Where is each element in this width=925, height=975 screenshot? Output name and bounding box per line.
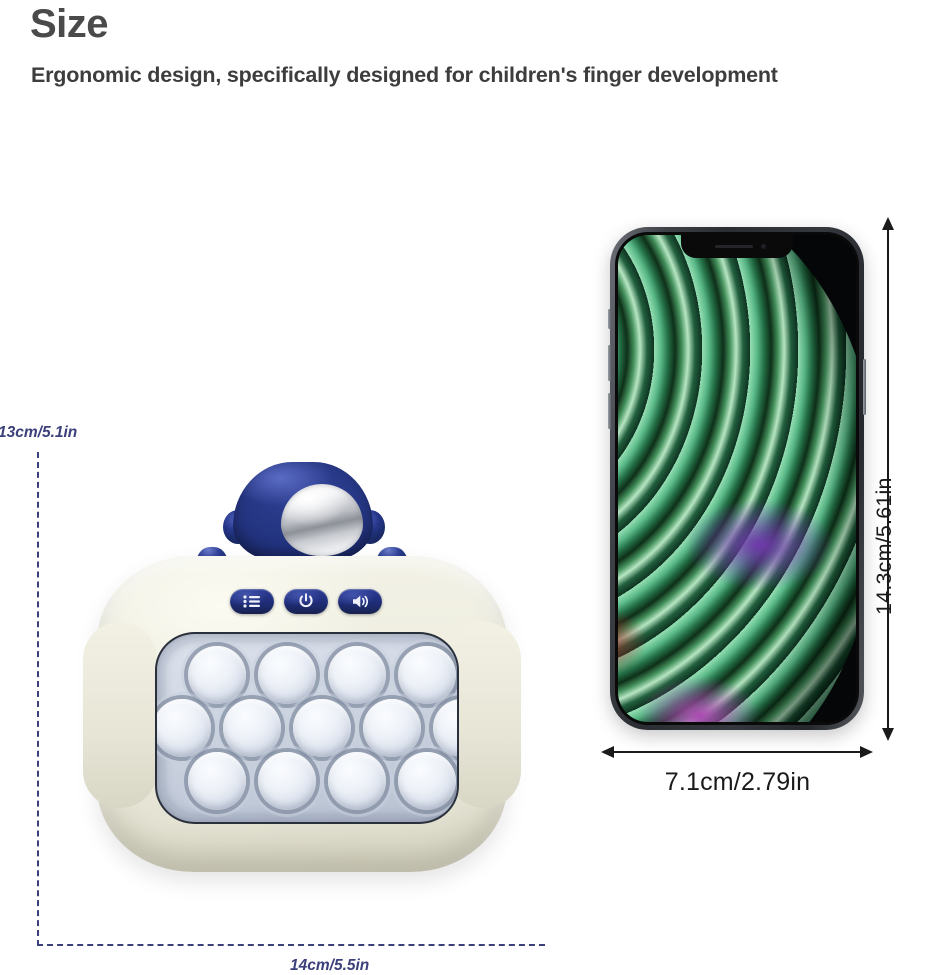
popit-bubble[interactable] xyxy=(398,646,456,704)
popit-bubble[interactable] xyxy=(258,646,316,704)
volume-button[interactable] xyxy=(338,589,382,614)
phone-bezel xyxy=(615,232,859,725)
phone-notch xyxy=(681,235,793,258)
phone-wallpaper-rim xyxy=(618,235,856,722)
power-button[interactable] xyxy=(284,589,328,614)
phone-power-button xyxy=(863,359,866,415)
toy-height-dashed-line xyxy=(37,452,39,946)
phone-screen xyxy=(618,235,856,722)
phone-width-label: 7.1cm/2.79in xyxy=(560,768,915,797)
popit-bubble-panel[interactable] xyxy=(155,632,459,824)
page-title: Size xyxy=(30,2,108,46)
phone-volume-up-button xyxy=(608,345,611,381)
front-camera-icon xyxy=(761,244,766,249)
popit-bubble[interactable] xyxy=(293,699,351,757)
toy-height-label: 13cm/5.1in xyxy=(0,424,77,442)
smartphone xyxy=(610,227,864,730)
speaker-volume-icon xyxy=(351,594,370,609)
toy-width-label: 14cm/5.5in xyxy=(290,957,369,975)
toy-width-dashed-line xyxy=(37,944,545,946)
earpiece-speaker-icon xyxy=(715,245,753,248)
popit-bubble[interactable] xyxy=(363,699,421,757)
toy-measurement-panel: 13cm/5.1in 14cm/5.5in xyxy=(0,190,560,799)
popit-bubble[interactable] xyxy=(223,699,281,757)
phone-measurement-panel: 14.3cm/5.61in 7.1cm/2.79in xyxy=(560,190,925,799)
menu-list-icon xyxy=(242,595,262,608)
astronaut-visor xyxy=(281,484,363,556)
popit-bubble[interactable] xyxy=(328,646,386,704)
menu-button[interactable] xyxy=(230,589,274,614)
phone-width-arrow xyxy=(612,751,862,753)
astronaut-helmet xyxy=(233,462,373,562)
toy-console xyxy=(97,462,507,892)
popit-bubble[interactable] xyxy=(398,752,456,810)
popit-bubble[interactable] xyxy=(188,752,246,810)
popit-bubble[interactable] xyxy=(155,699,211,757)
page-subtitle: Ergonomic design, specifically designed … xyxy=(31,63,778,88)
popit-bubble[interactable] xyxy=(328,752,386,810)
phone-mute-switch xyxy=(608,309,611,329)
power-icon xyxy=(298,593,314,609)
control-button-bar xyxy=(230,588,382,614)
popit-bubble[interactable] xyxy=(258,752,316,810)
phone-volume-down-button xyxy=(608,393,611,429)
phone-height-label: 14.3cm/5.61in xyxy=(872,477,897,615)
astronaut-mascot xyxy=(215,462,390,567)
popit-bubble[interactable] xyxy=(188,646,246,704)
